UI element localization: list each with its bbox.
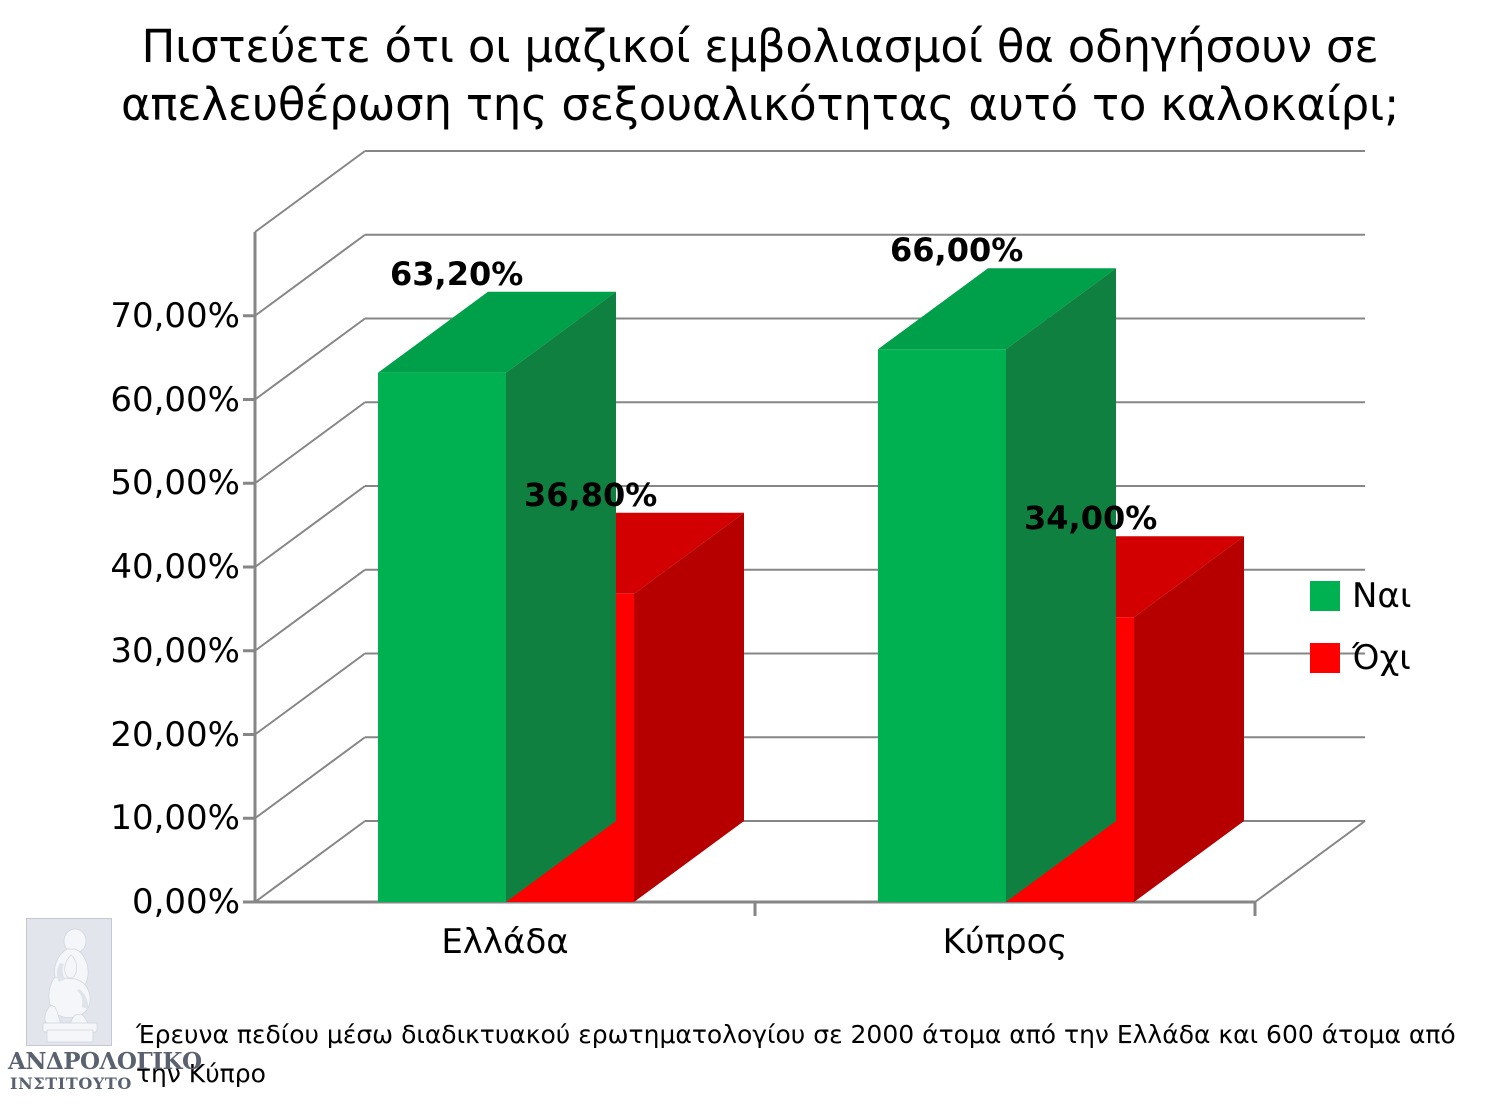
source-footnote: Έρευνα πεδίου μέσω διαδικτυακού ερωτηματ… — [136, 1016, 1456, 1094]
legend-swatch-yes — [1310, 581, 1340, 611]
thinker-statue-svg — [27, 919, 112, 1046]
legend-label-yes: Ναι — [1352, 579, 1411, 613]
legend-swatch-no — [1310, 643, 1340, 673]
logo-name: ΑΝΔΡΟΛΟΓΙΚΟ — [8, 1049, 134, 1074]
thinker-statue-icon — [26, 918, 112, 1046]
y-axis-tick-label: 50,00% — [100, 466, 240, 500]
y-axis-tick-label: 20,00% — [100, 718, 240, 752]
x-axis-category-label: Κύπρος — [855, 925, 1155, 959]
x-axis-category-label: Ελλάδα — [355, 925, 655, 959]
bar-value-label: 36,80% — [524, 479, 657, 511]
organization-logo: ΑΝΔΡΟΛΟΓΙΚΟ ΙΝΣΤΙΤΟΥΤΟ — [8, 918, 134, 1104]
y-axis-tick-label: 10,00% — [100, 801, 240, 835]
logo-subtitle: ΙΝΣΤΙΤΟΥΤΟ — [8, 1074, 134, 1093]
y-axis-tick-label: 40,00% — [100, 550, 240, 584]
legend-item-yes[interactable]: Ναι — [1310, 565, 1490, 627]
bar-value-label: 63,20% — [390, 258, 523, 290]
chart-legend: Ναι Όχι — [1310, 565, 1490, 689]
y-axis-tick-label: 70,00% — [100, 299, 240, 333]
y-axis-tick-label: 30,00% — [100, 634, 240, 668]
bars-group — [378, 268, 1244, 902]
legend-item-no[interactable]: Όχι — [1310, 627, 1490, 689]
bar-value-label: 34,00% — [1024, 502, 1157, 534]
legend-label-no: Όχι — [1352, 641, 1411, 675]
logo-text: ΑΝΔΡΟΛΟΓΙΚΟ ΙΝΣΤΙΤΟΥΤΟ — [8, 1049, 134, 1093]
y-axis-tick-label: 60,00% — [100, 383, 240, 417]
y-axis-tick-label: 0,00% — [100, 885, 240, 919]
bar-value-label: 66,00% — [890, 234, 1023, 266]
